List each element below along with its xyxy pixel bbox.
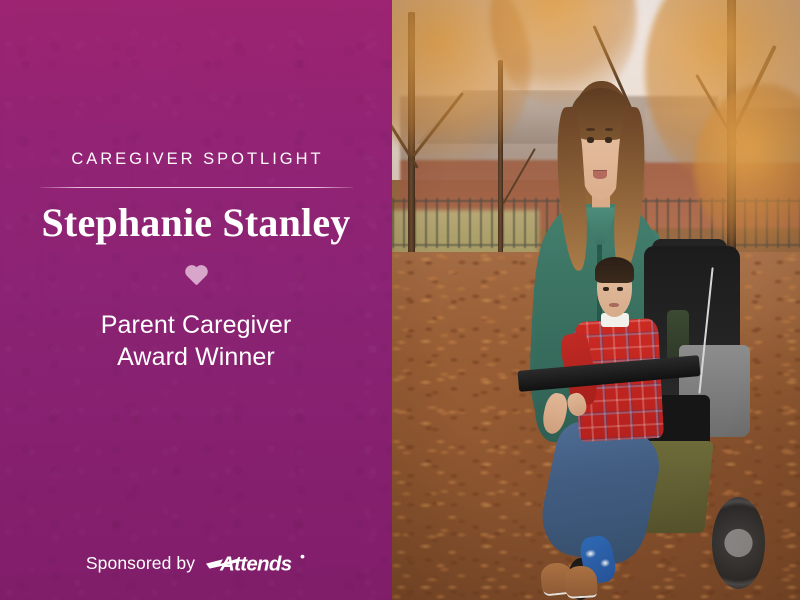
woman-eye	[605, 137, 612, 143]
divider-rule	[40, 187, 353, 188]
caregiver-name: Stephanie Stanley	[41, 202, 350, 244]
caregiver-photograph	[392, 0, 800, 600]
photo-boy-figure	[553, 260, 700, 593]
attends-logo[interactable]: Attends	[206, 550, 306, 576]
award-subtitle-line-2: Award Winner	[101, 341, 292, 373]
boy-shoe	[564, 565, 598, 597]
boy-hair	[595, 257, 633, 284]
purple-info-panel: CAREGIVER SPOTLIGHT Stephanie Stanley Pa…	[0, 0, 392, 600]
sponsor-block: Sponsored by Attends	[0, 550, 392, 576]
caregiver-spotlight-banner: CAREGIVER SPOTLIGHT Stephanie Stanley Pa…	[0, 0, 800, 600]
woman-eye	[587, 137, 594, 143]
eyebrow-label: CAREGIVER SPOTLIGHT	[68, 151, 323, 168]
boy-eye	[617, 287, 623, 291]
boy-eye	[603, 287, 609, 291]
wheelchair-rear-wheel	[712, 497, 765, 589]
heart-icon	[184, 266, 209, 289]
award-subtitle: Parent Caregiver Award Winner	[101, 309, 292, 373]
svg-text:Attends: Attends	[219, 552, 292, 575]
woman-smile	[593, 170, 607, 179]
sponsored-by-label: Sponsored by	[86, 553, 195, 574]
award-subtitle-line-1: Parent Caregiver	[101, 309, 292, 341]
panel-content: CAREGIVER SPOTLIGHT Stephanie Stanley Pa…	[0, 0, 392, 600]
photo-wheelchair	[523, 246, 776, 600]
